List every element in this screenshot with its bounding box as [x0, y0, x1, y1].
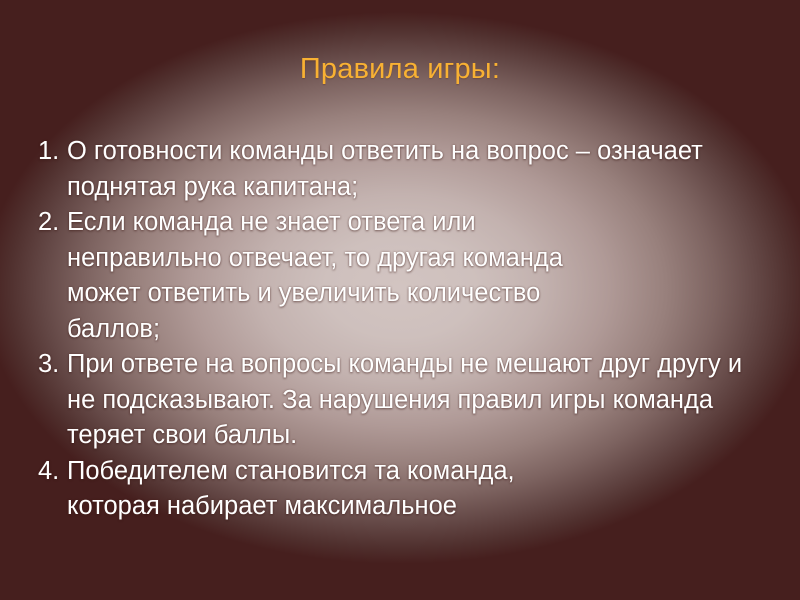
list-item: 3. При ответе на вопросы команды не меша… — [38, 347, 757, 454]
list-item-text: О готовности команды ответить на вопрос … — [67, 134, 767, 205]
list-item-text: Если команда не знает ответа или неправи… — [67, 205, 627, 347]
list-item-number: 1. — [38, 134, 59, 170]
list-item-number: 3. — [38, 347, 59, 383]
list-item-text: Победителем становится та команда, котор… — [67, 454, 587, 525]
list-item-number: 4. — [38, 454, 59, 490]
rules-list: 1. О готовности команды ответить на вопр… — [38, 134, 768, 525]
list-item-text: При ответе на вопросы команды не мешают … — [67, 347, 757, 454]
list-item-number: 2. — [38, 205, 59, 241]
list-item: 4. Победителем становится та команда, ко… — [38, 454, 587, 525]
presentation-slide: Правила игры: 1. О готовности команды от… — [0, 0, 800, 600]
page-title: Правила игры: — [0, 52, 800, 86]
list-item: 2. Если команда не знает ответа или непр… — [38, 205, 627, 347]
list-item: 1. О готовности команды ответить на вопр… — [38, 134, 767, 205]
